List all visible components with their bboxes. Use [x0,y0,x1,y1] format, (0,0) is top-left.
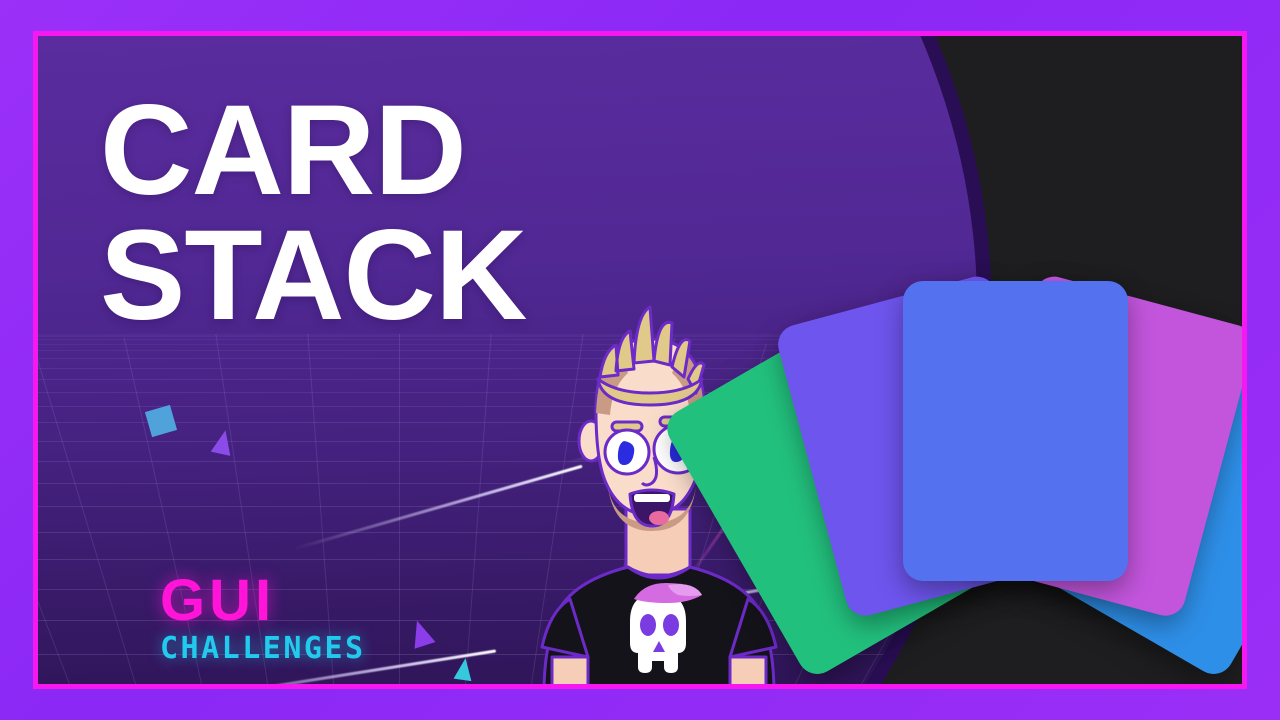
avatar-arm-right [730,657,766,684]
skull-eye-right [663,614,679,636]
title-line-1: CARD [100,88,526,213]
logo-gui-text: GUI [160,572,366,630]
page-title: CARD STACK [100,88,526,339]
thumbnail-canvas: CARD STACK GUI CHALLENGES [0,0,1280,720]
grid-line-vertical [38,352,70,684]
avatar-teeth [634,494,670,502]
triangle-cyan [454,657,475,681]
skull-shape [630,593,686,673]
avatar-tongue [649,511,669,525]
logo-challenges-text: CHALLENGES [160,634,366,664]
skull-eye-left [640,614,656,636]
grid-line-vertical [399,334,400,684]
grid-line-vertical [465,334,492,684]
card-blue-front[interactable] [903,281,1128,581]
title-line-2: STACK [100,213,526,338]
inner-panel: CARD STACK GUI CHALLENGES [38,36,1242,684]
brand-logo: GUI CHALLENGES [160,572,366,664]
avatar-arm-left [552,657,588,684]
card-stack[interactable] [773,251,1242,671]
neon-frame: CARD STACK GUI CHALLENGES [33,31,1247,689]
grid-line-vertical [38,344,136,684]
